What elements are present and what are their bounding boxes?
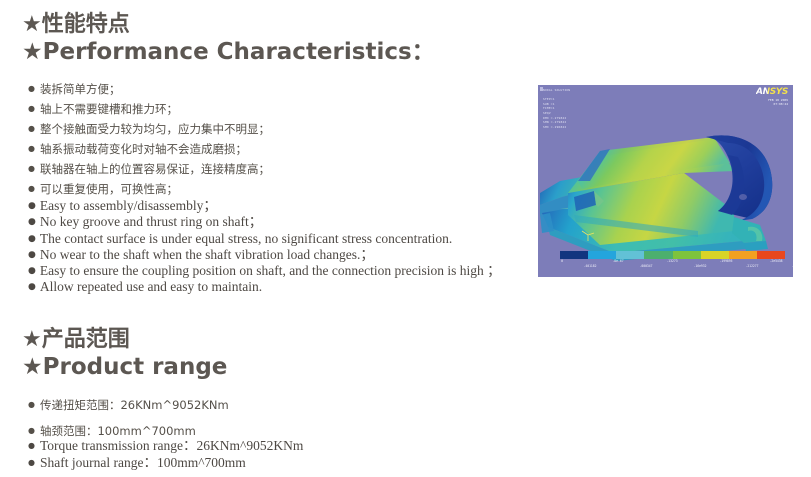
bullet-icon: ● xyxy=(28,250,36,260)
list-item: ●轴系振动载荷变化时对轴不会造成磨损； xyxy=(28,139,270,159)
legend-tick: .29e842 xyxy=(791,264,793,268)
list-item-label: No key groove and thrust ring on shaft； xyxy=(40,214,262,229)
list-item-label: 装拆简单方便； xyxy=(40,82,121,96)
legend-swatch xyxy=(616,251,644,259)
list-item: ●No key groove and thrust ring on shaft； xyxy=(28,214,501,230)
list-item: ●Easy to assembly/disassembly； xyxy=(28,198,501,214)
list-item-label: Shaft journal range：100mm^700mm xyxy=(40,455,246,470)
list-item-label: 传递扭矩范围：26KNm^9052KNm xyxy=(40,398,229,412)
legend-tick: .000347 xyxy=(639,264,652,268)
list-item-label: 轴上不需要键槽和推力环； xyxy=(40,102,178,116)
bullet-icon: ● xyxy=(28,458,35,467)
list-item-label: 可以重复使用，可换性高； xyxy=(40,182,178,196)
bullet-icon: ● xyxy=(28,164,35,173)
bullet-icon: ● xyxy=(28,184,35,193)
performance-heading-cn: ★性能特点 xyxy=(22,12,435,38)
list-item-label: 轴系振动载荷变化时对轴不会造成磨损； xyxy=(40,142,247,156)
performance-bullets-cn: ●装拆简单方便； ●轴上不需要键槽和推力环； ●整个接触面受力较为均匀，应力集中… xyxy=(28,79,270,199)
legend-swatch xyxy=(701,251,729,259)
list-item: ●Easy to ensure the coupling position on… xyxy=(28,263,501,279)
ansys-logo-text: ANSYS xyxy=(756,87,788,97)
product-range-heading-cn: ★产品范围 xyxy=(22,327,227,353)
legend-tick: .16e932 xyxy=(693,264,706,268)
list-item-label: 联轴器在轴上的位置容易保证，连接精度高； xyxy=(40,162,270,176)
list-item-label: Easy to assembly/disassembly； xyxy=(40,198,217,213)
legend-tick: .401182 xyxy=(583,264,596,268)
list-item: ●联轴器在轴上的位置容易保证，连接精度高； xyxy=(28,159,270,179)
list-item-label: The contact surface is under equal stres… xyxy=(40,231,452,246)
fea-analysis-image: NODAL SOLUTION STEP=1 SUB =1 TIME=1 SEQV… xyxy=(538,85,793,277)
list-item: ●Allow repeated use and easy to maintain… xyxy=(28,279,501,295)
bullet-icon: ● xyxy=(28,217,36,227)
bullet-icon: ● xyxy=(28,84,35,93)
legend-tick: .2e5438 xyxy=(769,259,782,263)
legend-tick: .8e-67 xyxy=(612,259,623,263)
bullet-icon: ● xyxy=(28,441,35,450)
list-item-label: 轴颈范围：100mm^700mm xyxy=(40,424,196,438)
list-item: ●传递扭矩范围：26KNm^9052KNm xyxy=(28,392,229,418)
list-item: ●No wear to the shaft when the shaft vib… xyxy=(28,247,501,263)
fea-solution-header: NODAL SOLUTION STEP=1 SUB =1 TIME=1 SEQV… xyxy=(543,88,570,129)
legend-swatch xyxy=(673,251,701,259)
legend-colorbar xyxy=(560,251,785,259)
legend-swatch xyxy=(560,251,588,259)
list-item: ●整个接触面受力较为均匀，应力集中不明显； xyxy=(28,119,270,139)
bullet-icon: ● xyxy=(28,400,35,409)
fea-legend: 0 .8e-67 .13273 .199895 .2e5438 .401182 … xyxy=(560,251,785,273)
legend-tick: .13273 xyxy=(666,259,677,263)
ansys-logo: ANSYS FEB 18 2009 07:08:44 xyxy=(756,87,788,107)
bullet-icon: ● xyxy=(28,426,35,435)
fea-timestamp: FEB 18 2009 07:08:44 xyxy=(756,98,788,107)
bullet-icon: ● xyxy=(28,201,36,211)
list-item-label: Torque transmission range：26KNm^9052KNm xyxy=(40,438,303,453)
legend-swatch xyxy=(729,251,757,259)
list-item-label: 整个接触面受力较为均匀，应力集中不明显； xyxy=(40,122,270,136)
legend-tick-labels: 0 .8e-67 .13273 .199895 .2e5438 .401182 … xyxy=(560,259,785,273)
list-item: ●装拆简单方便； xyxy=(28,79,270,99)
list-item-label: Easy to ensure the coupling position on … xyxy=(40,263,501,278)
legend-tick: .212277 xyxy=(745,264,758,268)
bullet-icon: ● xyxy=(28,144,35,153)
bullet-icon: ● xyxy=(28,282,36,292)
product-range-heading-en: ★Product range xyxy=(22,353,227,381)
legend-tick: 0 xyxy=(561,259,563,263)
legend-tick: .199895 xyxy=(719,259,732,263)
performance-heading-group: ★性能特点 ★Performance Characteristics： xyxy=(22,12,435,66)
product-range-bullets-en: ●Torque transmission range：26KNm^9052KNm… xyxy=(28,437,303,471)
bullet-icon: ● xyxy=(28,124,35,133)
bullet-icon: ● xyxy=(28,104,35,113)
list-item: ●可以重复使用，可换性高； xyxy=(28,179,270,199)
list-item: ●The contact surface is under equal stre… xyxy=(28,231,501,247)
list-item: ●轴上不需要键槽和推力环； xyxy=(28,99,270,119)
legend-swatch xyxy=(588,251,616,259)
bullet-icon: ● xyxy=(28,266,36,276)
fea-model-graphic xyxy=(538,85,793,277)
legend-swatch xyxy=(644,251,672,259)
performance-heading-en: ★Performance Characteristics： xyxy=(22,38,435,66)
legend-swatch xyxy=(757,251,785,259)
document-page: ★性能特点 ★Performance Characteristics： ●装拆简… xyxy=(0,0,811,477)
list-item: ●Torque transmission range：26KNm^9052KNm xyxy=(28,437,303,454)
list-item-label: Allow repeated use and easy to maintain. xyxy=(40,279,262,294)
list-item-label: No wear to the shaft when the shaft vibr… xyxy=(40,247,374,262)
list-item: ●Shaft journal range：100mm^700mm xyxy=(28,454,303,471)
performance-bullets-en: ●Easy to assembly/disassembly； ●No key g… xyxy=(28,198,501,296)
bullet-icon: ● xyxy=(28,234,36,244)
product-range-heading-group: ★产品范围 ★Product range xyxy=(22,327,227,381)
